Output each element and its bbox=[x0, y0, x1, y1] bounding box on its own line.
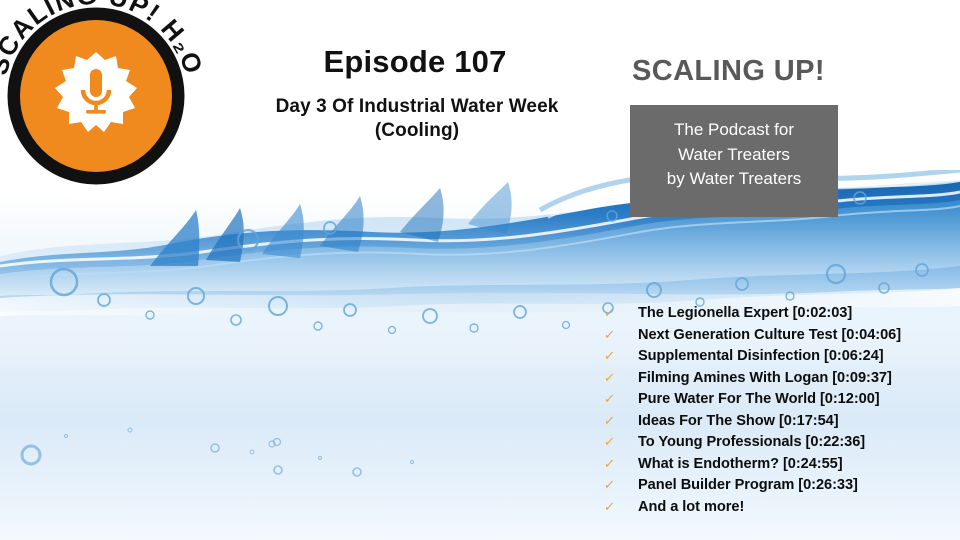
list-item: ✓ Panel Builder Program [0:26:33] bbox=[600, 475, 950, 497]
banner-tagline-line-1: The Podcast for bbox=[630, 118, 838, 143]
check-icon: ✓ bbox=[599, 497, 639, 519]
episode-subtitle-line-1: Day 3 Of Industrial Water Week bbox=[222, 95, 612, 119]
check-icon: ✓ bbox=[599, 346, 639, 368]
list-item: ✓ Pure Water For The World [0:12:00] bbox=[600, 389, 950, 411]
check-icon: ✓ bbox=[599, 475, 639, 497]
list-item: ✓ To Young Professionals [0:22:36] bbox=[600, 432, 950, 454]
list-item-label: Panel Builder Program [0:26:33] bbox=[638, 475, 858, 497]
banner-title: SCALING UP! bbox=[632, 55, 825, 88]
list-item: ✓ The Legionella Expert [0:02:03] bbox=[600, 303, 950, 325]
episode-title: Episode 107 bbox=[250, 44, 580, 80]
list-item-label: Next Generation Culture Test [0:04:06] bbox=[638, 325, 901, 347]
check-icon: ✓ bbox=[599, 389, 639, 411]
list-item: ✓ Filming Amines With Logan [0:09:37] bbox=[600, 368, 950, 390]
list-item-label: Supplemental Disinfection [0:06:24] bbox=[638, 346, 884, 368]
list-item: ✓ Next Generation Culture Test [0:04:06] bbox=[600, 325, 950, 347]
check-icon: ✓ bbox=[599, 432, 639, 454]
list-item-label: Ideas For The Show [0:17:54] bbox=[638, 411, 839, 433]
check-icon: ✓ bbox=[599, 368, 639, 390]
list-item-label: The Legionella Expert [0:02:03] bbox=[638, 303, 852, 325]
check-icon: ✓ bbox=[599, 411, 639, 433]
podcast-episode-artwork: SCALING UP! H₂O THE WATER TREATER'S PODC… bbox=[0, 0, 960, 540]
list-item-label: Filming Amines With Logan [0:09:37] bbox=[638, 368, 892, 390]
check-icon: ✓ bbox=[599, 454, 639, 476]
check-icon: ✓ bbox=[599, 303, 639, 325]
episode-topics-checklist: ✓ The Legionella Expert [0:02:03] ✓ Next… bbox=[600, 303, 950, 518]
check-icon: ✓ bbox=[599, 325, 639, 347]
episode-subtitle-line-2: (Cooling) bbox=[222, 119, 612, 143]
banner-tagline-line-3: by Water Treaters bbox=[630, 167, 838, 192]
list-item-label: What is Endotherm? [0:24:55] bbox=[638, 454, 843, 476]
list-item: ✓ What is Endotherm? [0:24:55] bbox=[600, 454, 950, 476]
episode-subtitle: Day 3 Of Industrial Water Week (Cooling) bbox=[222, 95, 612, 144]
banner-tagline-box: The Podcast for Water Treaters by Water … bbox=[630, 105, 838, 217]
list-item: ✓ Supplemental Disinfection [0:06:24] bbox=[600, 346, 950, 368]
list-item-label: To Young Professionals [0:22:36] bbox=[638, 432, 865, 454]
list-item-label: And a lot more! bbox=[638, 497, 744, 519]
list-item: ✓ Ideas For The Show [0:17:54] bbox=[600, 411, 950, 433]
banner-tagline-line-2: Water Treaters bbox=[630, 143, 838, 168]
list-item: ✓ And a lot more! bbox=[600, 497, 950, 519]
scaling-up-h2o-logo: SCALING UP! H₂O THE WATER TREATER'S PODC… bbox=[0, 0, 210, 210]
list-item-label: Pure Water For The World [0:12:00] bbox=[638, 389, 880, 411]
